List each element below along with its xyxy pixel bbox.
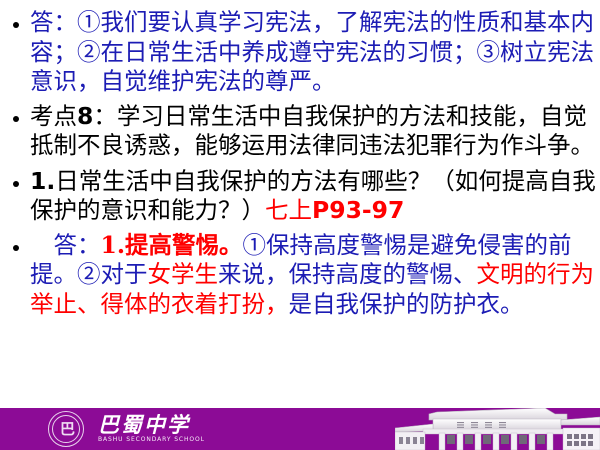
bullet-block-question-1: 1.日常生活中自我保护的方法有哪些？（如何提高自我保护的意识和能力？）七上P93… [0,167,600,226]
bullet-block-answer-constitution: 答：①我们要认真学习宪法，了解宪法的性质和基本内容；②在日常生活中养成遵守宪法的… [0,8,600,97]
bullet-dot-icon [13,22,19,28]
text-run: ：学习日常生活中自我保护的方法和技能，自觉抵制不良诱惑，能够运用法律同违法犯罪行… [30,102,594,160]
text-run-textbook-volume: 七上 [265,196,312,224]
text-run-page-reference: P93-97 [312,196,404,224]
text-run-point-1: 1.提高警惕。 [101,231,243,259]
text-run: 来说，保持高度的警惕、 [218,260,477,288]
school-logo-icon: 巴蜀 [48,411,86,449]
bullet-dot-icon [13,116,19,122]
paragraph-answer-constitution: 答：①我们要认真学习宪法，了解宪法的性质和基本内容；②在日常生活中养成遵守宪法的… [30,8,600,97]
school-name-english: BASHU SECONDARY SCHOOL [98,436,205,444]
text-run-kaodian-number: 8 [77,102,93,130]
paragraph-answer-self-protection: 答：1.提高警惕。①保持高度警惕是避免侵害的前提。②对于女学生来说，保持高度的警… [30,231,600,320]
slide-canvas: 答：①我们要认真学习宪法，了解宪法的性质和基本内容；②在日常生活中养成遵守宪法的… [0,0,600,450]
slide-footer-bar: 巴蜀 巴蜀中学 BASHU SECONDARY SCHOOL [0,408,600,450]
bullet-block-answer-self-protection: 答：1.提高警惕。①保持高度警惕是避免侵害的前提。②对于女学生来说，保持高度的警… [0,231,600,320]
text-run: 答：①我们要认真学习宪法，了解宪法的性质和基本内容；②在日常生活中养成遵守宪法的… [30,8,594,95]
slide-content-area: 答：①我们要认真学习宪法，了解宪法的性质和基本内容；②在日常生活中养成遵守宪法的… [0,0,600,408]
bullet-block-kaodian-8: 考点8：学习日常生活中自我保护的方法和技能，自觉抵制不良诱惑，能够运用法律同违法… [0,102,600,161]
text-run: 答： [30,231,101,259]
logo-seal-text: 巴蜀 [56,420,76,438]
paragraph-kaodian-8: 考点8：学习日常生活中自我保护的方法和技能，自觉抵制不良诱惑，能够运用法律同违法… [30,102,600,161]
text-run: 考点 [30,102,77,130]
school-name-chinese: 巴蜀中学 [98,413,205,436]
text-run: 是自我保护的防护衣。 [289,290,524,318]
text-run-emphasis-female-student: 女学生 [148,260,219,288]
paragraph-question-1: 1.日常生活中自我保护的方法有哪些？（如何提高自我保护的意识和能力？）七上P93… [30,167,600,226]
bullet-dot-icon [13,245,19,251]
bullet-dot-icon [13,181,19,187]
school-gate-illustration [395,408,600,450]
school-name-block: 巴蜀中学 BASHU SECONDARY SCHOOL [98,413,205,444]
text-run-question-number: 1. [30,167,55,195]
